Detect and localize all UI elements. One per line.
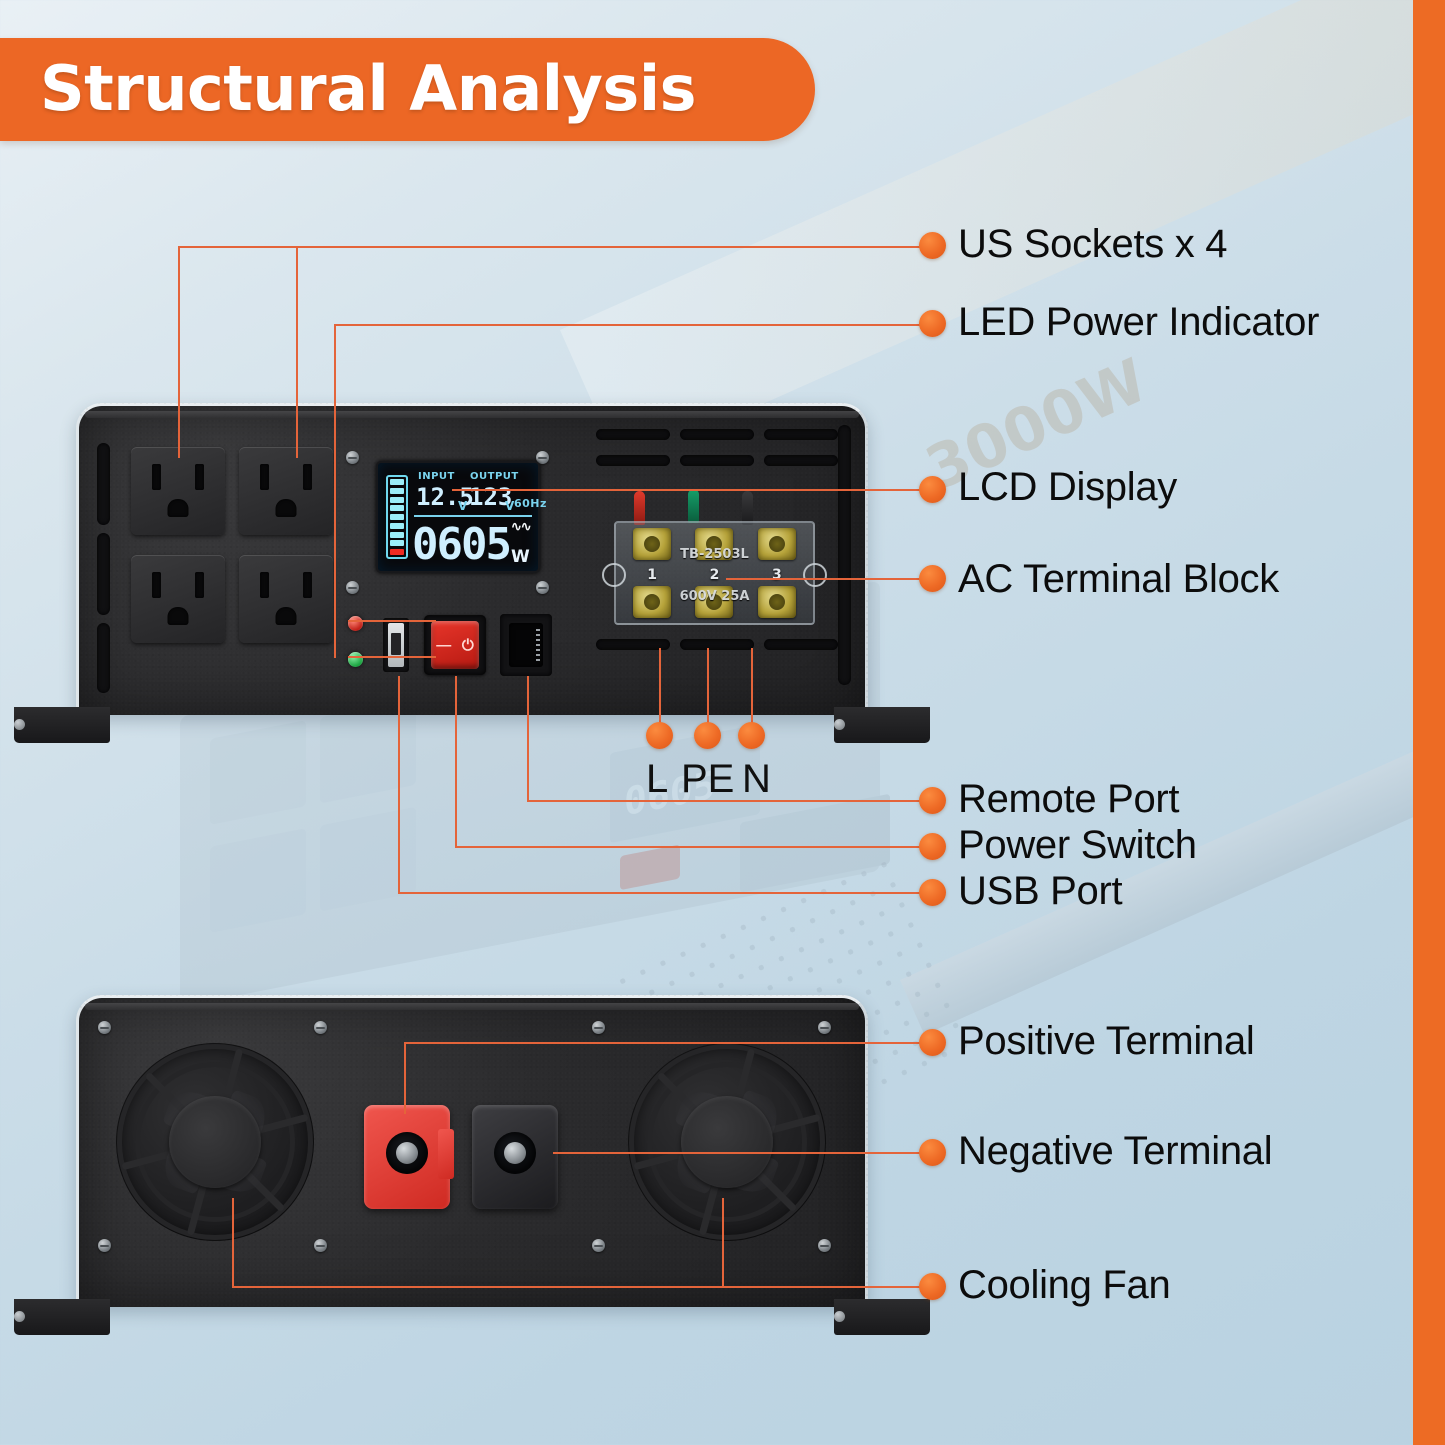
lcd-input-label: INPUT (418, 471, 455, 482)
callout-label-cooling-fan: Cooling Fan (958, 1263, 1170, 1308)
battery-bar-graph (386, 475, 408, 559)
terminal-mount-hole-right (803, 563, 827, 587)
callout-label-remote: Remote Port (958, 777, 1179, 822)
lcd-output-label: OUTPUT (470, 471, 519, 482)
us-socket-2[interactable] (239, 447, 333, 535)
mounting-bracket-right (834, 707, 930, 743)
right-edge-accent-strip (1413, 0, 1445, 1445)
mounting-bracket-right (834, 1299, 930, 1335)
power-switch-rocker[interactable]: — ⏻ (431, 621, 479, 669)
panel-screw (818, 1239, 831, 1252)
callout-line-cooling-fan (232, 1286, 930, 1288)
terminal-pin-label-l: L (646, 757, 668, 802)
us-socket-3[interactable] (131, 555, 225, 643)
callout-dot-l (646, 722, 673, 749)
callout-line-led (334, 324, 336, 658)
callout-label-positive: Positive Terminal (958, 1019, 1255, 1064)
vent-slot (764, 639, 838, 650)
title-banner: Structural Analysis (0, 38, 815, 141)
callout-label-led: LED Power Indicator (958, 300, 1319, 345)
callout-dot-lcd (919, 476, 946, 503)
callout-dot-pe (694, 722, 721, 749)
callout-dot-n (738, 722, 765, 749)
terminal-wire-red (634, 491, 645, 525)
callout-line-led (348, 620, 436, 622)
callout-label-us-sockets: US Sockets x 4 (958, 222, 1227, 267)
usb-port[interactable] (383, 618, 409, 672)
panel-screw (592, 1021, 605, 1034)
chassis-top-lip (85, 1003, 859, 1010)
vent-slot (596, 429, 670, 440)
panel-screw (314, 1239, 327, 1252)
callout-line-usb (398, 892, 930, 894)
callout-line-remote (527, 676, 529, 800)
positive-terminal[interactable] (364, 1105, 450, 1209)
terminal-pin-label-n: N (742, 757, 771, 802)
power-switch[interactable]: — ⏻ (424, 615, 486, 675)
panel-screw (346, 451, 359, 464)
callout-line-us-sockets (178, 246, 180, 458)
sine-wave-icon: ∿∿ (511, 519, 530, 535)
callout-line-cooling-fan (722, 1198, 724, 1287)
panel-screw (314, 1021, 327, 1034)
vent-slot (680, 639, 754, 650)
callout-dot-cooling-fan (919, 1273, 946, 1300)
power-on-symbol: ⏻ (462, 637, 474, 654)
terminal-mount-hole-left (602, 563, 626, 587)
callout-line-pe (707, 648, 709, 728)
callout-dot-led (919, 310, 946, 337)
callout-line-power-switch (455, 676, 457, 846)
panel-screw (98, 1239, 111, 1252)
callout-line-us-sockets (296, 246, 298, 458)
callout-line-led (348, 656, 436, 658)
lcd-frequency: 60Hz (514, 497, 547, 510)
us-socket-1[interactable] (131, 447, 225, 535)
terminal-wire-green (688, 489, 699, 523)
led-power-indicator-green (348, 652, 363, 667)
callout-line-power-switch (455, 846, 930, 848)
us-socket-4[interactable] (239, 555, 333, 643)
lcd-power-value: 0605 (412, 519, 510, 570)
vent-slot (680, 455, 754, 466)
callout-label-ac-terminal: AC Terminal Block (958, 557, 1279, 602)
callout-line-cooling-fan (232, 1198, 234, 1287)
terminal-part-marking: TB-2503L (616, 547, 813, 562)
callout-label-lcd: LCD Display (958, 465, 1177, 510)
callout-dot-negative (919, 1139, 946, 1166)
callout-dot-usb (919, 879, 946, 906)
callout-dot-ac-terminal (919, 565, 946, 592)
vent-slot (680, 429, 754, 440)
callout-line-led (334, 620, 336, 658)
chassis-top-lip (85, 411, 859, 418)
led-power-indicator-red (348, 616, 363, 631)
callout-label-power-switch: Power Switch (958, 823, 1197, 868)
callout-line-usb (398, 676, 400, 892)
page-title: Structural Analysis (40, 52, 696, 125)
vent-slot (838, 425, 851, 685)
callout-label-usb: USB Port (958, 869, 1122, 914)
vent-slot (764, 455, 838, 466)
power-off-symbol: — (436, 637, 451, 654)
mounting-bracket-left (14, 707, 110, 743)
callout-dot-power-switch (919, 833, 946, 860)
lcd-divider (414, 515, 532, 517)
remote-port[interactable] (500, 614, 552, 676)
panel-screw (346, 581, 359, 594)
callout-line-ac-terminal (726, 578, 930, 580)
lcd-input-unit: V (458, 499, 468, 513)
vent-slot (97, 623, 110, 693)
infographic-canvas: 3000W 0605 Structural Analysis (0, 0, 1445, 1445)
callout-dot-us-sockets (919, 232, 946, 259)
inverter-front-view: INPUT OUTPUT 12.5 V 123 V 60Hz 0605 W ∿∿ (76, 403, 868, 715)
callout-dot-positive (919, 1029, 946, 1056)
mounting-bracket-left (14, 1299, 110, 1335)
cooling-fan-right (628, 1043, 826, 1241)
lcd-power-unit: W (511, 547, 530, 567)
cooling-fan-left (116, 1043, 314, 1241)
callout-line-us-sockets (178, 246, 930, 248)
panel-screw (592, 1239, 605, 1252)
callout-line-positive (404, 1042, 930, 1044)
ac-terminal-block[interactable]: TB-2503L 1 2 3 600V 25A (614, 521, 815, 625)
callout-line-negative (553, 1152, 930, 1154)
terminal-wire-black (742, 491, 753, 525)
lcd-display: INPUT OUTPUT 12.5 V 123 V 60Hz 0605 W ∿∿ (376, 461, 540, 573)
panel-screw (98, 1021, 111, 1034)
callout-line-l (659, 648, 661, 728)
vent-slot (97, 533, 110, 615)
terminal-rating-marking: 600V 25A (616, 589, 813, 604)
negative-terminal[interactable] (472, 1105, 558, 1209)
vent-slot (764, 429, 838, 440)
terminal-pin-label-pe: PE (681, 757, 734, 802)
vent-slot (97, 443, 110, 525)
callout-label-negative: Negative Terminal (958, 1129, 1272, 1174)
panel-screw (536, 581, 549, 594)
vent-slot (596, 455, 670, 466)
callout-line-positive (404, 1042, 406, 1114)
panel-screw (818, 1021, 831, 1034)
callout-line-n (751, 648, 753, 728)
callout-dot-remote (919, 787, 946, 814)
callout-line-remote (527, 800, 930, 802)
callout-line-lcd (452, 489, 930, 491)
callout-line-led (334, 324, 930, 326)
